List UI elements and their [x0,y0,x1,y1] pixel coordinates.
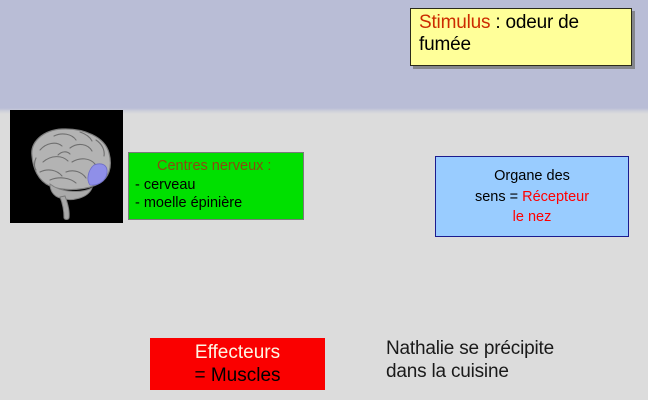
effecteurs-line-1: Effecteurs [150,341,325,364]
slide-canvas: Stimulus : odeur de fumée [0,0,648,400]
stimulus-line-1-rest: : odeur de [490,12,579,33]
stimulus-line-2: fumée [419,34,631,56]
centres-item-1: - moelle épinière [135,194,303,213]
nathalie-caption: Nathalie se précipite dans la cuisine [386,337,636,383]
nathalie-line-2: dans la cuisine [386,360,636,383]
organe-line-2: sens = Récepteur [442,187,622,208]
centres-title: Centres nerveux : [135,157,303,176]
stimulus-keyword: Stimulus [419,12,490,33]
organe-line-2-red: Récepteur [522,189,589,205]
effecteurs-box[interactable]: Effecteurs = Muscles [150,338,325,390]
brain-illustration-icon [10,110,123,223]
organe-line-2-black: sens = [475,189,522,205]
organe-des-sens-box[interactable]: Organe des sens = Récepteur le nez [435,156,629,237]
organe-line-1: Organe des [442,166,622,187]
stimulus-callout[interactable]: Stimulus : odeur de fumée [410,8,632,66]
centres-item-0: - cerveau [135,176,303,195]
centres-nerveux-box[interactable]: Centres nerveux : - cerveau - moelle épi… [128,152,304,220]
effecteurs-line-2: = Muscles [150,364,325,387]
stimulus-line-1: Stimulus : odeur de [419,12,631,34]
nathalie-line-1: Nathalie se précipite [386,337,636,360]
brain-image[interactable] [10,110,123,223]
organe-line-3: le nez [442,207,622,228]
